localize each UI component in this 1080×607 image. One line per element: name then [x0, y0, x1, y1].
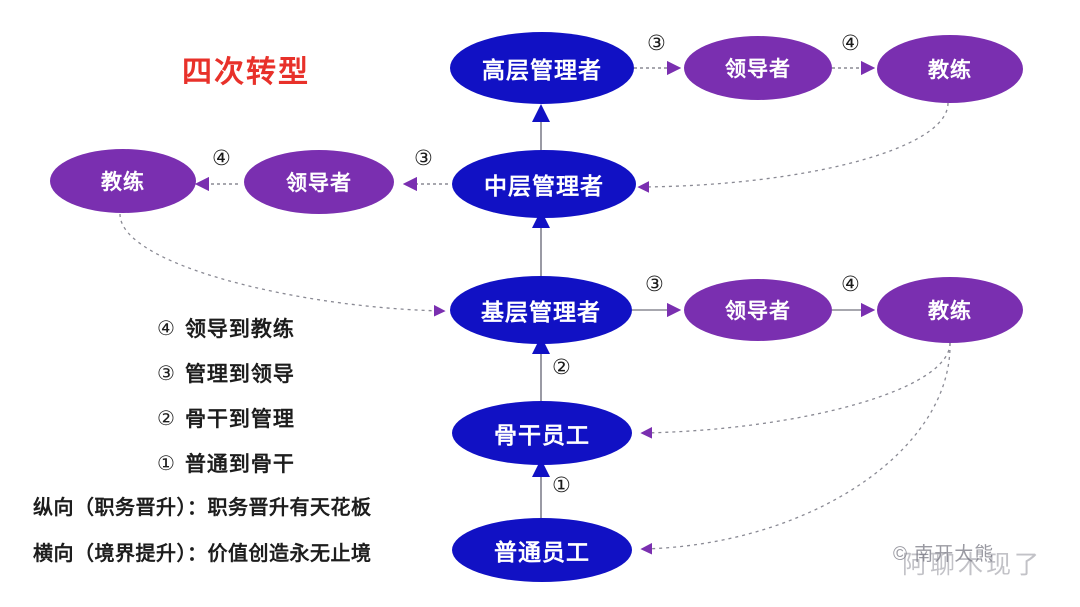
- legend: ④ 领导到教练 ③ 管理到领导 ② 骨干到管理 ① 普通到骨干: [157, 313, 295, 493]
- legend-text-3: 管理到领导: [185, 358, 295, 388]
- node-coach-top-label: 教练: [928, 54, 972, 84]
- node-leader-mid[interactable]: 领导者: [244, 150, 394, 214]
- node-coach-low-label: 教练: [928, 295, 972, 325]
- node-coach-top[interactable]: 教练: [877, 35, 1023, 103]
- step-badge-top-leader-to-coach: ④: [841, 33, 860, 54]
- step-badge-low-to-leader: ③: [645, 274, 664, 295]
- node-leader-top[interactable]: 领导者: [684, 36, 832, 100]
- node-senior-manager[interactable]: 高层管理者: [450, 32, 634, 104]
- node-ordinary-staff[interactable]: 普通员工: [452, 518, 632, 582]
- step-badge-mid-leader-to-coach: ④: [212, 148, 231, 169]
- node-senior-manager-label: 高层管理者: [482, 51, 602, 85]
- step-badge-top-to-leader: ③: [647, 33, 666, 54]
- node-leader-low-label: 领导者: [725, 295, 791, 325]
- legend-text-2: 骨干到管理: [185, 403, 295, 433]
- node-front-manager-label: 基层管理者: [481, 293, 601, 327]
- step-badge-backbone-to-manager: ②: [552, 357, 571, 378]
- node-coach-low[interactable]: 教练: [877, 277, 1023, 343]
- step-badge-low-leader-to-coach: ④: [841, 274, 860, 295]
- legend-item-2: ② 骨干到管理: [157, 403, 295, 433]
- step-badge-mid-to-leader: ③: [414, 148, 433, 169]
- node-front-manager[interactable]: 基层管理者: [450, 276, 632, 344]
- legend-mark-4: ④: [157, 316, 176, 340]
- legend-mark-2: ②: [157, 406, 176, 430]
- footnote-vertical: 纵向（职务晋升）：职务晋升有天花板: [33, 491, 372, 520]
- edge-lowcoach-to-backbone: [643, 343, 950, 433]
- node-middle-manager[interactable]: 中层管理者: [452, 150, 636, 218]
- legend-text-4: 领导到教练: [185, 313, 295, 343]
- legend-item-1: ① 普通到骨干: [157, 448, 295, 478]
- node-ordinary-staff-label: 普通员工: [494, 533, 590, 567]
- legend-mark-1: ①: [157, 451, 176, 475]
- diagram-canvas: 四次转型 高层管理者 领导者 教练 教练 领导者 中层管理者 基层管理者 领导者…: [0, 0, 1080, 607]
- node-backbone-staff[interactable]: 骨干员工: [452, 401, 632, 465]
- node-leader-top-label: 领导者: [725, 53, 791, 83]
- footnote-horizontal: 横向（境界提升）：价值创造永无止境: [33, 537, 372, 566]
- edge-midcoach-to-front: [120, 214, 443, 311]
- legend-text-1: 普通到骨干: [185, 448, 295, 478]
- legend-item-3: ③ 管理到领导: [157, 358, 295, 388]
- footnotes: 纵向（职务晋升）：职务晋升有天花板 横向（境界提升）：价值创造永无止境: [33, 491, 372, 583]
- node-middle-manager-label: 中层管理者: [484, 167, 604, 201]
- legend-mark-3: ③: [157, 361, 176, 385]
- node-leader-low[interactable]: 领导者: [684, 279, 832, 341]
- edge-topcoach-to-middle: [640, 103, 948, 187]
- page-title: 四次转型: [182, 47, 310, 91]
- node-backbone-staff-label: 骨干员工: [494, 416, 590, 450]
- node-coach-mid-label: 教练: [101, 166, 145, 196]
- watermark-overlay: 阿聊木现了: [902, 545, 1042, 581]
- node-coach-mid[interactable]: 教练: [50, 149, 196, 213]
- edge-lowcoach-to-ordinary: [643, 343, 950, 549]
- legend-item-4: ④ 领导到教练: [157, 313, 295, 343]
- node-leader-mid-label: 领导者: [286, 167, 352, 197]
- step-badge-ordinary-to-backbone: ①: [552, 475, 571, 496]
